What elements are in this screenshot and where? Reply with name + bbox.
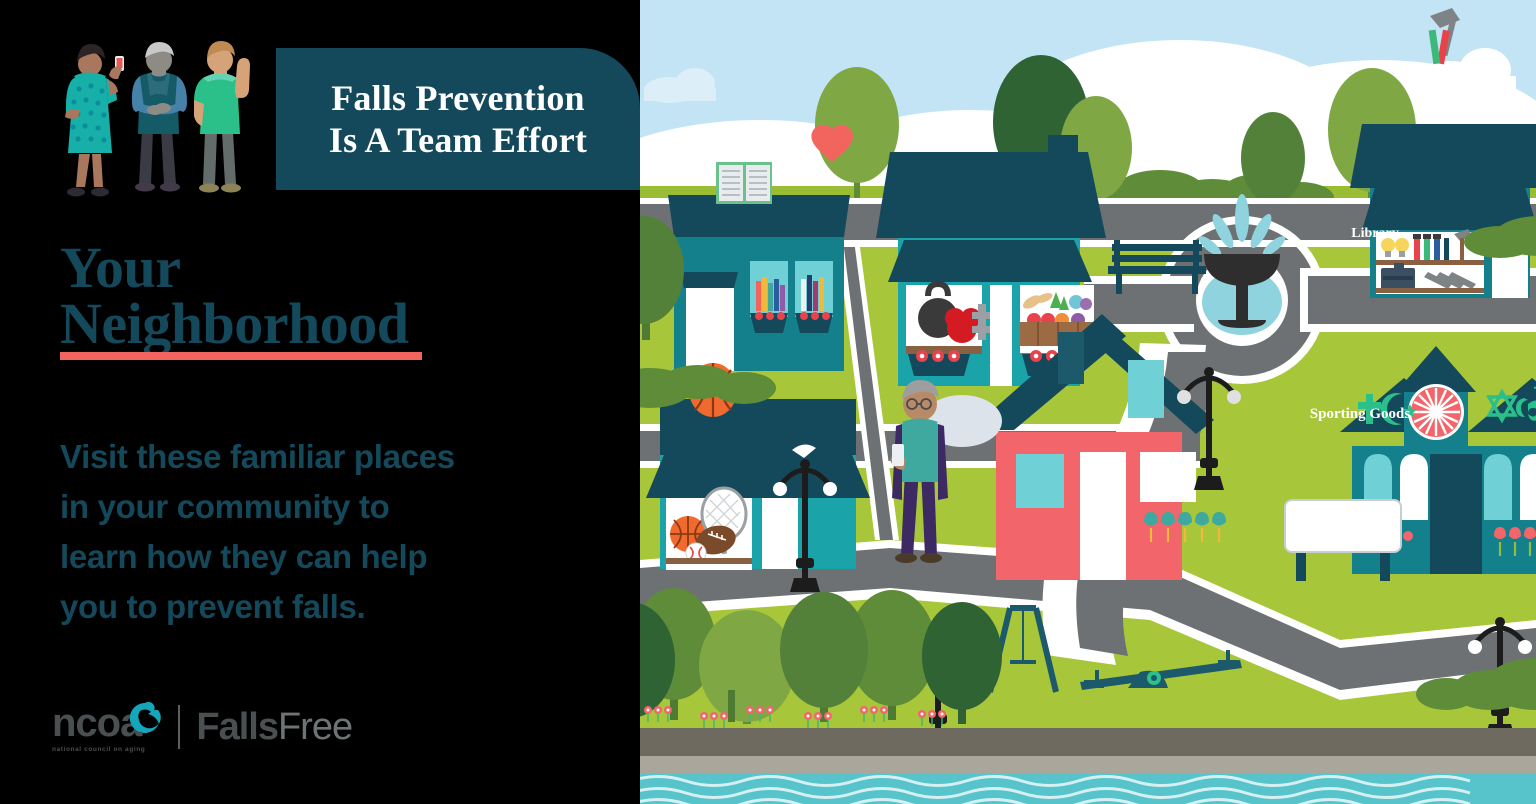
- poster-canvas: Falls Prevention Is A Team Effort Your N…: [0, 0, 1536, 804]
- body-line-4: you to prevent falls.: [60, 582, 600, 632]
- fallsfree-falls: Falls: [196, 706, 278, 748]
- logo-divider: [178, 705, 180, 749]
- body-line-1: Visit these familiar places: [60, 432, 600, 482]
- neighborhood-map-illustration: Library Senior Center Hardware Store Spo…: [640, 0, 1536, 804]
- person-woman-teal: [65, 44, 124, 197]
- body-line-3: learn how they can help: [60, 532, 600, 582]
- body-paragraph: Visit these familiar places in your comm…: [60, 432, 600, 633]
- sporting-goods-sign-band: [660, 399, 856, 455]
- headline-line1: Your: [60, 240, 600, 296]
- open-book-icon: [716, 162, 772, 204]
- badge-title-line1: Falls Prevention: [329, 77, 587, 119]
- body-line-2: in your community to: [60, 482, 600, 532]
- hardware-store-roof: [1350, 124, 1536, 188]
- badge-title-line2: Is A Team Effort: [329, 119, 587, 161]
- ncoa-tagline: national council on aging: [52, 746, 162, 753]
- person-woman-green: [194, 41, 250, 193]
- senior-center-roof: [876, 152, 1106, 238]
- left-text-panel: Falls Prevention Is A Team Effort Your N…: [0, 0, 640, 804]
- person-man-blue: [132, 42, 187, 192]
- promenade-walk: [640, 728, 1536, 756]
- ncoa-swirl-icon: [128, 701, 162, 742]
- fallsfree-free: Free: [278, 706, 352, 748]
- headline-line2: Neighborhood: [60, 296, 600, 352]
- page-title: Your Neighborhood: [60, 240, 600, 351]
- seawall: [640, 756, 1536, 774]
- coral-underline-rule: [60, 352, 422, 360]
- faith-door: [1430, 454, 1482, 574]
- ncoa-logo: ncoa national council on aging: [52, 701, 162, 753]
- fallsfree-wordmark: FallsFree: [196, 708, 352, 746]
- three-people-illustration: [55, 34, 260, 200]
- logo-lockup: ncoa national council on aging FallsFree: [52, 700, 352, 754]
- title-badge: Falls Prevention Is A Team Effort: [276, 48, 640, 190]
